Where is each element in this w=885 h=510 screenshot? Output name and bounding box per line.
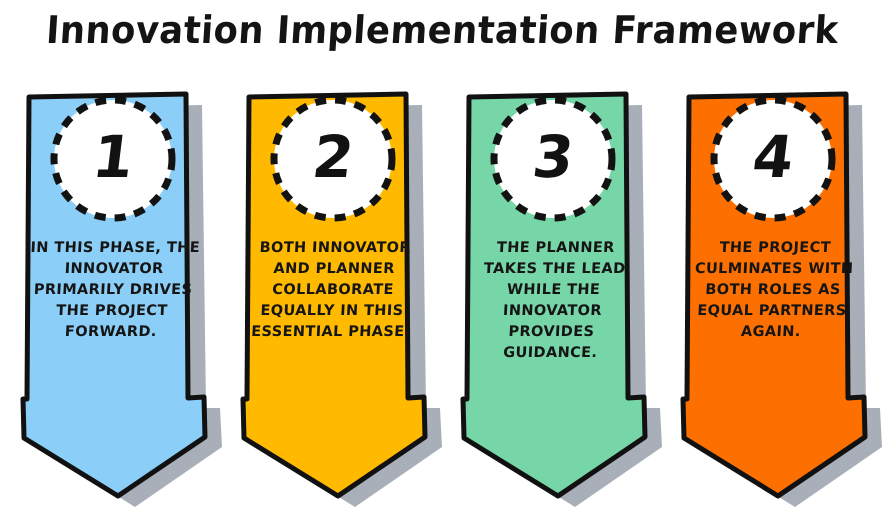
step-description-1: In this phase, the innovator primarily d… — [25, 238, 201, 343]
step-description-2: Both innovator and planner collaborate e… — [245, 238, 421, 343]
step-description-3: The planner takes the lead while the inn… — [465, 238, 642, 364]
step-badge-3: 3 — [494, 100, 612, 218]
step-badge-4: 4 — [714, 100, 832, 218]
step-badge-2: 2 — [274, 100, 392, 218]
step-description-4: The project culminates with both roles a… — [685, 238, 861, 343]
arrow-step-3[interactable]: 3 The planner takes the lead while the i… — [454, 0, 674, 510]
step-number-4: 4 — [707, 100, 839, 218]
step-number-2: 2 — [267, 100, 399, 218]
infographic-canvas: Innovation Implementation Framework 1 In… — [0, 0, 885, 510]
arrow-step-4[interactable]: 4 The project culminates with both roles… — [674, 0, 885, 510]
arrow-step-1[interactable]: 1 In this phase, the innovator primarily… — [14, 0, 234, 510]
arrow-steps-group: 1 In this phase, the innovator primarily… — [0, 0, 885, 510]
arrow-step-2[interactable]: 2 Both innovator and planner collaborate… — [234, 0, 454, 510]
step-number-3: 3 — [487, 100, 619, 218]
step-number-1: 1 — [47, 100, 179, 218]
step-badge-1: 1 — [54, 100, 172, 218]
